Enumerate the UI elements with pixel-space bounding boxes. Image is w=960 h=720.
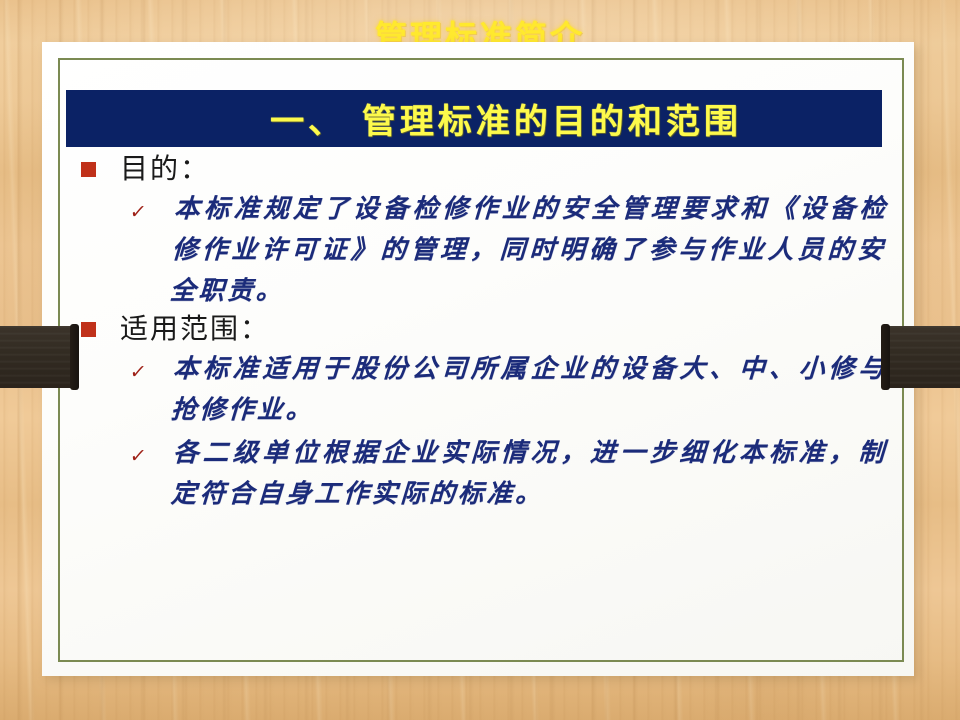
list-item: ✓ 各二级单位根据企业实际情况，进一步细化本标准，制定符合自身工作实际的标准。 xyxy=(66,433,886,515)
list-item-text: 本标准规定了设备检修作业的安全管理要求和《设备检修作业许可证》的管理，同时明确了… xyxy=(169,189,889,311)
red-square-bullet-icon xyxy=(81,322,96,337)
list-item-text: 各二级单位根据企业实际情况，进一步细化本标准，制定符合自身工作实际的标准。 xyxy=(170,433,888,515)
section-scope: 适用范围： ✓ 本标准适用于股份公司所属企业的设备大、中、小修与抢修作业。 ✓ … xyxy=(66,315,886,514)
slide-content: 目的： ✓ 本标准规定了设备检修作业的安全管理要求和《设备检修作业许可证》的管理… xyxy=(66,155,886,655)
right-frame-clip-cap xyxy=(881,324,890,390)
slide-canvas: 管理标准简介 一、 管理标准的目的和范围 目的： ✓ 本标准规定了设备检修作业的… xyxy=(0,0,960,720)
check-mark-icon: ✓ xyxy=(129,203,152,222)
list-item: ✓ 本标准适用于股份公司所属企业的设备大、中、小修与抢修作业。 xyxy=(66,349,886,431)
section-purpose-heading: 目的： xyxy=(120,155,210,183)
section-purpose-header: 目的： xyxy=(66,155,886,183)
section-purpose: 目的： ✓ 本标准规定了设备检修作业的安全管理要求和《设备检修作业许可证》的管理… xyxy=(66,155,886,311)
red-square-bullet-icon xyxy=(81,162,96,177)
check-mark-icon: ✓ xyxy=(129,363,152,382)
list-item-text: 本标准适用于股份公司所属企业的设备大、中、小修与抢修作业。 xyxy=(170,349,888,431)
section-title-band: 一、 管理标准的目的和范围 xyxy=(66,90,882,147)
left-frame-clip xyxy=(0,326,78,388)
section-scope-header: 适用范围： xyxy=(66,315,886,343)
list-item: ✓ 本标准规定了设备检修作业的安全管理要求和《设备检修作业许可证》的管理，同时明… xyxy=(66,189,886,311)
section-title-text: 一、 管理标准的目的和范围 xyxy=(270,94,742,143)
check-mark-icon: ✓ xyxy=(129,447,152,466)
section-scope-heading: 适用范围： xyxy=(120,315,270,343)
right-frame-clip xyxy=(882,326,960,388)
left-frame-clip-cap xyxy=(70,324,79,390)
